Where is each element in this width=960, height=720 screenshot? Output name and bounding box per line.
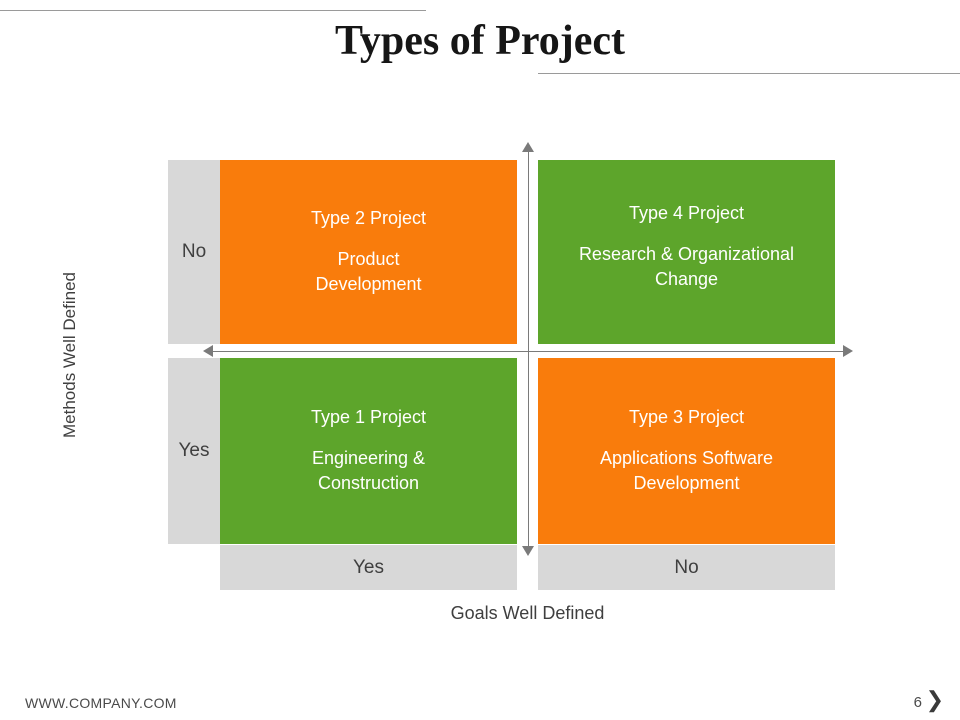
quadrant-type-4[interactable]: Type 4 Project Research & Organizational… bbox=[538, 160, 835, 344]
quadrant-type-4-description: Research & Organizational Change bbox=[579, 242, 794, 292]
quadrant-type-4-title: Type 4 Project bbox=[629, 202, 744, 224]
quadrant-type-3-title: Type 3 Project bbox=[629, 406, 744, 428]
quadrant-type-4-description-line-1: Research & Organizational bbox=[579, 242, 794, 267]
column-label-no-text: No bbox=[674, 557, 698, 579]
quadrant-type-2-description: Product Development bbox=[315, 247, 421, 297]
quadrant-type-1[interactable]: Type 1 Project Engineering & Constructio… bbox=[220, 358, 517, 544]
quadrant-type-4-description-line-2: Change bbox=[579, 267, 794, 292]
chevron-right-icon[interactable]: ❯ bbox=[926, 689, 944, 711]
quadrant-type-3-description-line-1: Applications Software bbox=[600, 446, 773, 471]
x-axis-caption: Goals Well Defined bbox=[220, 603, 835, 624]
footer-page-number: 6 bbox=[914, 694, 922, 711]
quadrant-type-1-description: Engineering & Construction bbox=[312, 446, 425, 496]
quadrant-type-2[interactable]: Type 2 Project Product Development bbox=[220, 160, 517, 344]
row-label-yes: Yes bbox=[168, 358, 220, 544]
quadrant-type-1-title: Type 1 Project bbox=[311, 406, 426, 428]
quadrant-type-2-description-line-1: Product bbox=[315, 247, 421, 272]
row-label-no: No bbox=[168, 160, 220, 344]
row-label-yes-text: Yes bbox=[179, 440, 210, 462]
quadrant-type-2-title: Type 2 Project bbox=[311, 207, 426, 229]
footer-company-url: WWW.COMPANY.COM bbox=[25, 695, 177, 711]
quadrant-type-2-description-line-2: Development bbox=[315, 272, 421, 297]
column-label-yes-text: Yes bbox=[353, 557, 384, 579]
quadrant-type-3-description-line-2: Development bbox=[600, 471, 773, 496]
column-label-no: No bbox=[538, 545, 835, 590]
project-type-matrix: No Yes Type 2 Project Product Developmen… bbox=[0, 0, 960, 720]
y-axis-caption: Methods Well Defined bbox=[60, 225, 80, 485]
quadrant-type-1-description-line-2: Construction bbox=[312, 471, 425, 496]
axis-arrow-up-icon bbox=[522, 142, 534, 152]
axis-arrow-left-icon bbox=[203, 345, 213, 357]
row-label-no-text: No bbox=[182, 241, 206, 263]
quadrant-type-1-description-line-1: Engineering & bbox=[312, 446, 425, 471]
axis-arrow-down-icon bbox=[522, 546, 534, 556]
quadrant-type-3-description: Applications Software Development bbox=[600, 446, 773, 496]
axis-arrow-right-icon bbox=[843, 345, 853, 357]
column-label-yes: Yes bbox=[220, 545, 517, 590]
vertical-axis-line bbox=[528, 150, 529, 552]
horizontal-axis-line bbox=[212, 351, 846, 352]
quadrant-type-3[interactable]: Type 3 Project Applications Software Dev… bbox=[538, 358, 835, 544]
